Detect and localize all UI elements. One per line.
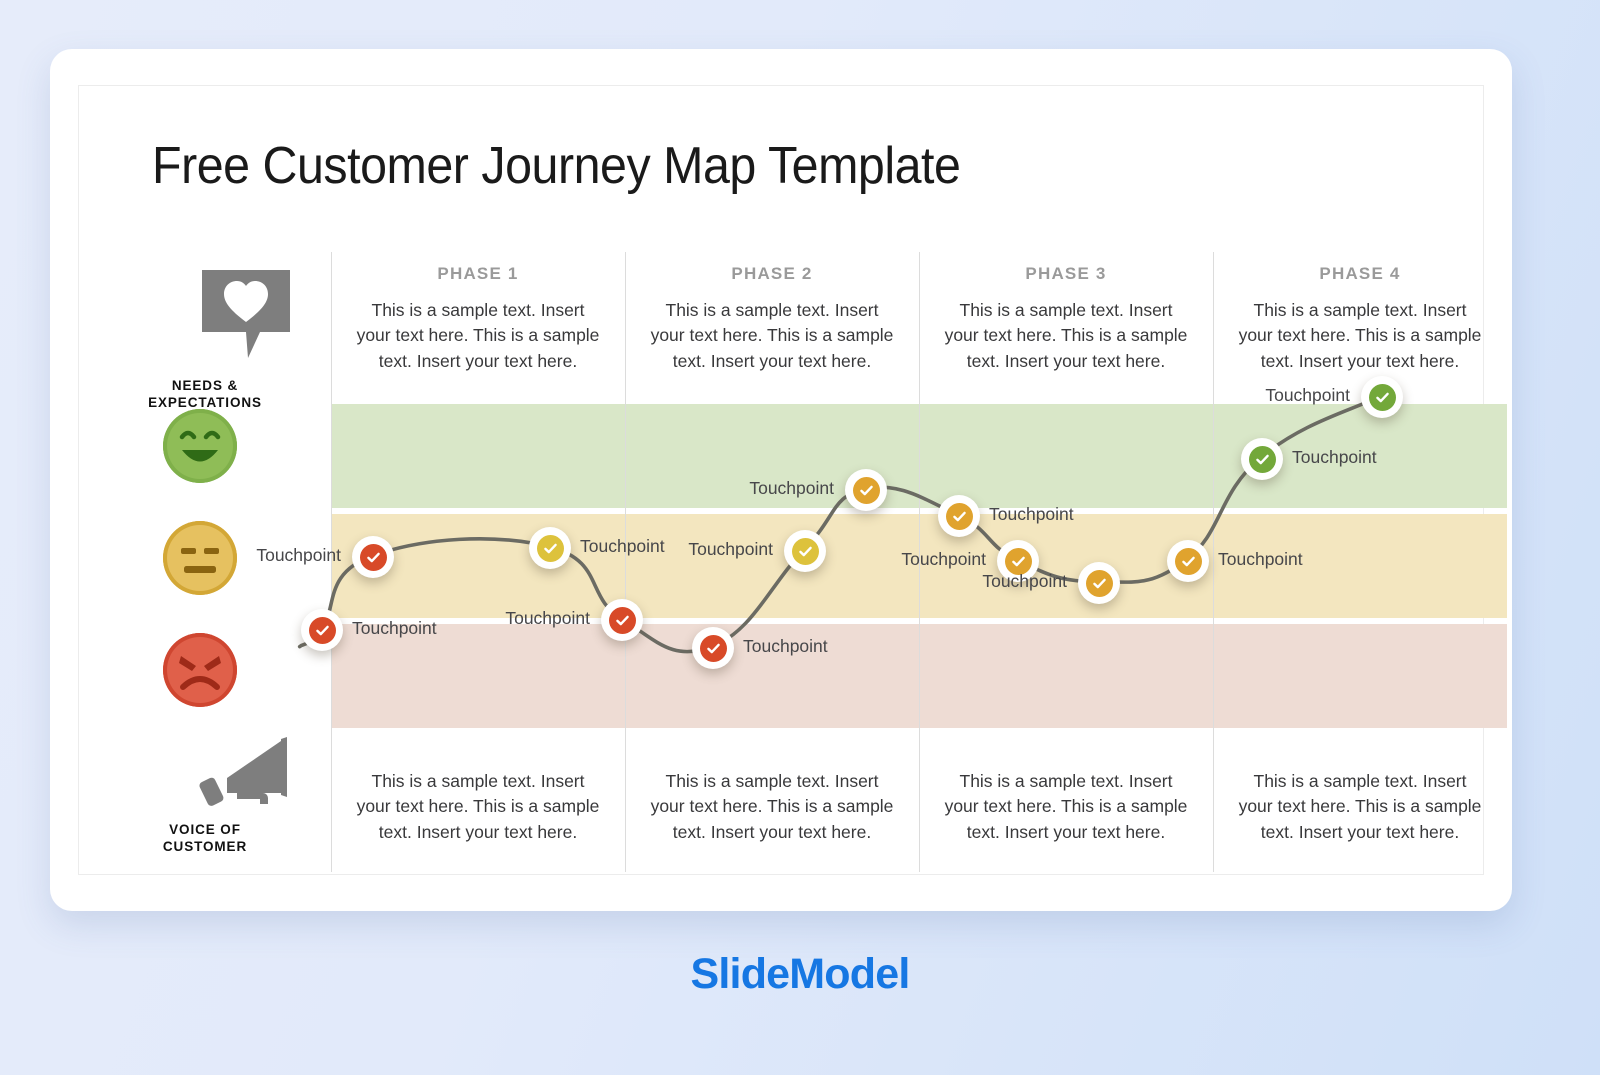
touchpoint-marker[interactable]	[1078, 562, 1120, 604]
phase-label: PHASE 2	[647, 264, 897, 284]
touchpoint-label: Touchpoint	[688, 539, 773, 560]
touchpoint-marker[interactable]	[352, 536, 394, 578]
phase-needs-text: This is a sample text. Insert your text …	[1235, 298, 1485, 374]
phase-needs-text: This is a sample text. Insert your text …	[353, 298, 603, 374]
neutral-face-icon	[163, 521, 237, 595]
slidemodel-logo: SlideModel	[0, 950, 1600, 999]
touchpoint-label: Touchpoint	[505, 608, 590, 629]
sidebar-item-label-needs: NEEDS & EXPECTATIONS	[105, 378, 305, 412]
phase-label: PHASE 4	[1235, 264, 1485, 284]
touchpoint-label: Touchpoint	[256, 545, 341, 566]
slide-card: Free Customer Journey Map Template NEEDS…	[50, 49, 1512, 911]
phase-header-4: PHASE 4 This is a sample text. Insert yo…	[1213, 264, 1507, 374]
touchpoint-marker[interactable]	[692, 627, 734, 669]
check-icon	[360, 544, 387, 571]
voice-text-3: This is a sample text. Insert your text …	[919, 769, 1213, 845]
check-icon	[1249, 446, 1276, 473]
check-icon	[609, 607, 636, 634]
phase-label: PHASE 1	[353, 264, 603, 284]
voice-text-2: This is a sample text. Insert your text …	[625, 769, 919, 845]
touchpoint-marker[interactable]	[1241, 438, 1283, 480]
touchpoint-marker[interactable]	[845, 469, 887, 511]
voice-text-4: This is a sample text. Insert your text …	[1213, 769, 1507, 845]
megaphone-icon	[197, 731, 297, 814]
touchpoint-marker[interactable]	[938, 495, 980, 537]
check-icon	[309, 617, 336, 644]
touchpoint-label: Touchpoint	[901, 549, 986, 570]
phase-header-2: PHASE 2 This is a sample text. Insert yo…	[625, 264, 919, 374]
touchpoint-marker[interactable]	[1361, 376, 1403, 418]
touchpoint-label: Touchpoint	[352, 618, 437, 639]
check-icon	[1175, 548, 1202, 575]
sidebar-item-label-voice: VOICE OF CUSTOMER	[105, 822, 305, 856]
touchpoint-label: Touchpoint	[1218, 549, 1303, 570]
sidebar: NEEDS & EXPECTATIONS	[79, 86, 331, 874]
happy-face-icon	[163, 409, 237, 483]
touchpoint-marker[interactable]	[301, 609, 343, 651]
touchpoint-label: Touchpoint	[1292, 447, 1377, 468]
touchpoint-marker[interactable]	[784, 530, 826, 572]
phase-needs-text: This is a sample text. Insert your text …	[941, 298, 1191, 374]
touchpoint-marker[interactable]	[601, 599, 643, 641]
speech-bubble-heart-icon	[200, 266, 292, 367]
touchpoint-label: Touchpoint	[580, 536, 665, 557]
touchpoint-label: Touchpoint	[989, 504, 1074, 525]
phase-needs-text: This is a sample text. Insert your text …	[647, 298, 897, 374]
check-icon	[853, 477, 880, 504]
touchpoint-marker[interactable]	[1167, 540, 1209, 582]
touchpoint-label: Touchpoint	[743, 636, 828, 657]
voice-text-1: This is a sample text. Insert your text …	[331, 769, 625, 845]
check-icon	[1086, 570, 1113, 597]
check-icon	[537, 535, 564, 562]
check-icon	[792, 538, 819, 565]
touchpoint-label: Touchpoint	[1265, 385, 1350, 406]
check-icon	[1369, 384, 1396, 411]
phase-header-3: PHASE 3 This is a sample text. Insert yo…	[919, 264, 1213, 374]
slide-inner-frame: Free Customer Journey Map Template NEEDS…	[78, 85, 1484, 875]
phase-header-1: PHASE 1 This is a sample text. Insert yo…	[331, 264, 625, 374]
angry-face-icon	[163, 633, 237, 707]
touchpoint-label: Touchpoint	[749, 478, 834, 499]
phase-label: PHASE 3	[941, 264, 1191, 284]
check-icon	[700, 635, 727, 662]
touchpoint-label: Touchpoint	[982, 571, 1067, 592]
check-icon	[946, 503, 973, 530]
touchpoint-marker[interactable]	[529, 527, 571, 569]
